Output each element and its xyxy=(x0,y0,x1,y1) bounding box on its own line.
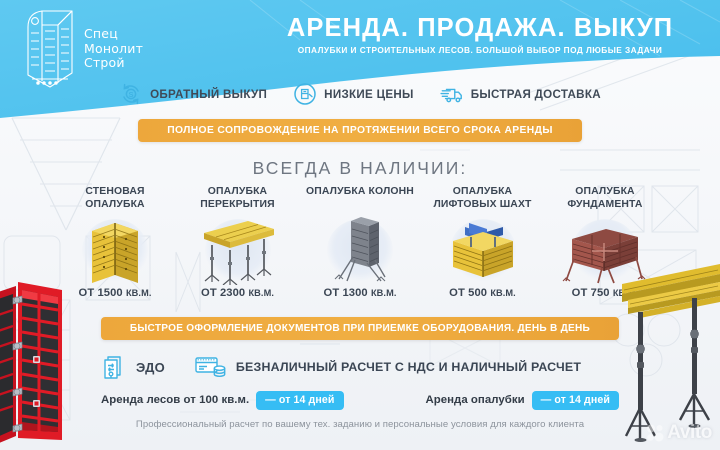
product-price-value: ОТ 500 xyxy=(449,287,487,299)
product-card-slab-formwork[interactable]: ОПАЛУБКА ПЕРЕКРЫТИЯ xyxy=(179,186,297,308)
brand-name-line3: Строй xyxy=(84,56,143,71)
product-price: ОТ 2300 КВ.М. xyxy=(201,287,274,299)
product-image xyxy=(182,213,294,285)
product-grid: СТЕНОВАЯ ОПАЛУБКА xyxy=(56,186,664,308)
lift-shaft-formwork-icon xyxy=(445,215,521,285)
product-name: ОПАЛУБКА КОЛОНН xyxy=(306,186,414,212)
headline-block: АРЕНДА. ПРОДАЖА. ВЫКУП ОПАЛУБКИ И СТРОИТ… xyxy=(250,14,710,56)
product-price: ОТ 500 КВ.М. xyxy=(449,287,516,299)
column-formwork-icon xyxy=(329,213,391,285)
product-image xyxy=(427,213,539,285)
feature-buyback[interactable]: S ОБРАТНЫЙ ВЫКУП xyxy=(119,82,267,106)
product-price-unit: КВ.М. xyxy=(248,288,274,298)
page-subtitle: ОПАЛУБКИ И СТРОИТЕЛЬНЫХ ЛЕСОВ. БОЛЬШОЙ В… xyxy=(250,45,710,56)
wall-formwork-icon xyxy=(82,215,148,285)
product-price-value: ОТ 750 xyxy=(572,287,610,299)
cash-label: БЕЗНАЛИЧНЫЙ РАСЧЕТ С НДС И НАЛИЧНЫЙ РАСЧ… xyxy=(236,360,581,374)
feature-fast-delivery[interactable]: БЫСТРАЯ ДОСТАВКА xyxy=(440,82,601,106)
low-price-tag-icon xyxy=(293,82,317,106)
delivery-truck-icon xyxy=(440,82,464,106)
term-scaffolding[interactable]: Аренда лесов от 100 кв.м. — от 14 дней xyxy=(101,391,344,410)
product-card-wall-formwork[interactable]: СТЕНОВАЯ ОПАЛУБКА xyxy=(56,186,174,308)
product-price: ОТ 1500 КВ.М. xyxy=(79,287,152,299)
term-badge: — от 14 дней xyxy=(256,391,343,410)
product-image xyxy=(59,213,171,285)
product-price-value: ОТ 1300 xyxy=(324,287,368,299)
svg-text:S: S xyxy=(129,90,134,99)
product-price-unit: КВ.М. xyxy=(371,288,397,298)
feature-low-prices[interactable]: НИЗКИЕ ЦЕНЫ xyxy=(293,82,414,106)
terms-row: Аренда лесов от 100 кв.м. — от 14 дней А… xyxy=(101,389,619,411)
product-price-unit: КВ.М. xyxy=(490,288,516,298)
product-name: СТЕНОВАЯ ОПАЛУБКА xyxy=(56,186,174,212)
term-label: Аренда лесов от 100 кв.м. xyxy=(101,394,249,406)
section-title: ВСЕГДА В НАЛИЧИИ: xyxy=(0,158,720,179)
promo-banner: Спец Монолит Строй АРЕНДА. ПРОДАЖА. ВЫКУ… xyxy=(0,0,720,450)
product-image xyxy=(304,213,416,285)
slab-formwork-icon xyxy=(196,215,280,285)
product-name: ОПАЛУБКА ЛИФТОВЫХ ШАХТ xyxy=(424,186,542,212)
red-wall-formwork-panel xyxy=(0,260,70,450)
brand-name: Спец Монолит Строй xyxy=(84,27,143,71)
product-price-unit: КВ.М. xyxy=(126,288,152,298)
edo-document-icon xyxy=(101,354,127,380)
feature-label: ОБРАТНЫЙ ВЫКУП xyxy=(150,88,267,101)
header-band: Спец Монолит Строй АРЕНДА. ПРОДАЖА. ВЫКУ… xyxy=(0,0,720,132)
ribbon-fast-paperwork: БЫСТРОЕ ОФОРМЛЕНИЕ ДОКУМЕНТОВ ПРИ ПРИЕМК… xyxy=(101,317,619,340)
product-price-value: ОТ 1500 xyxy=(79,287,123,299)
brand-name-line1: Спец xyxy=(84,27,143,42)
term-label: Аренда опалубки xyxy=(425,394,524,406)
ribbon-full-support: ПОЛНОЕ СОПРОВОЖДЕНИЕ НА ПРОТЯЖЕНИИ ВСЕГО… xyxy=(138,119,582,142)
product-name: ОПАЛУБКА ФУНДАМЕНТА xyxy=(546,186,664,212)
yellow-slab-formwork-props xyxy=(610,250,720,450)
product-card-lift-shaft-formwork[interactable]: ОПАЛУБКА ЛИФТОВЫХ ШАХТ xyxy=(424,186,542,308)
feature-label: НИЗКИЕ ЦЕНЫ xyxy=(324,88,414,101)
product-price: ОТ 1300 КВ.М. xyxy=(324,287,397,299)
product-card-column-formwork[interactable]: ОПАЛУБКА КОЛОНН xyxy=(301,186,419,308)
features-row: S ОБРАТНЫЙ ВЫКУП НИЗКИЕ ЦЕНЫ xyxy=(0,78,720,110)
card-and-coins-icon xyxy=(194,354,227,380)
term-badge: — от 14 дней xyxy=(532,391,619,410)
feature-label: БЫСТРАЯ ДОСТАВКА xyxy=(471,88,601,101)
buyback-cycle-icon: S xyxy=(119,82,143,106)
product-name: ОПАЛУБКА ПЕРЕКРЫТИЯ xyxy=(179,186,297,212)
payment-row: ЭДО БЕЗНАЛИЧНЫЙ РАСЧЕТ С НДС И НАЛИЧНЫЙ … xyxy=(101,352,619,382)
product-price-value: ОТ 2300 xyxy=(201,287,245,299)
brand-name-line2: Монолит xyxy=(84,42,143,57)
page-title: АРЕНДА. ПРОДАЖА. ВЫКУП xyxy=(250,14,710,42)
edo-label: ЭДО xyxy=(136,360,165,375)
term-formwork[interactable]: Аренда опалубки — от 14 дней xyxy=(425,391,619,410)
